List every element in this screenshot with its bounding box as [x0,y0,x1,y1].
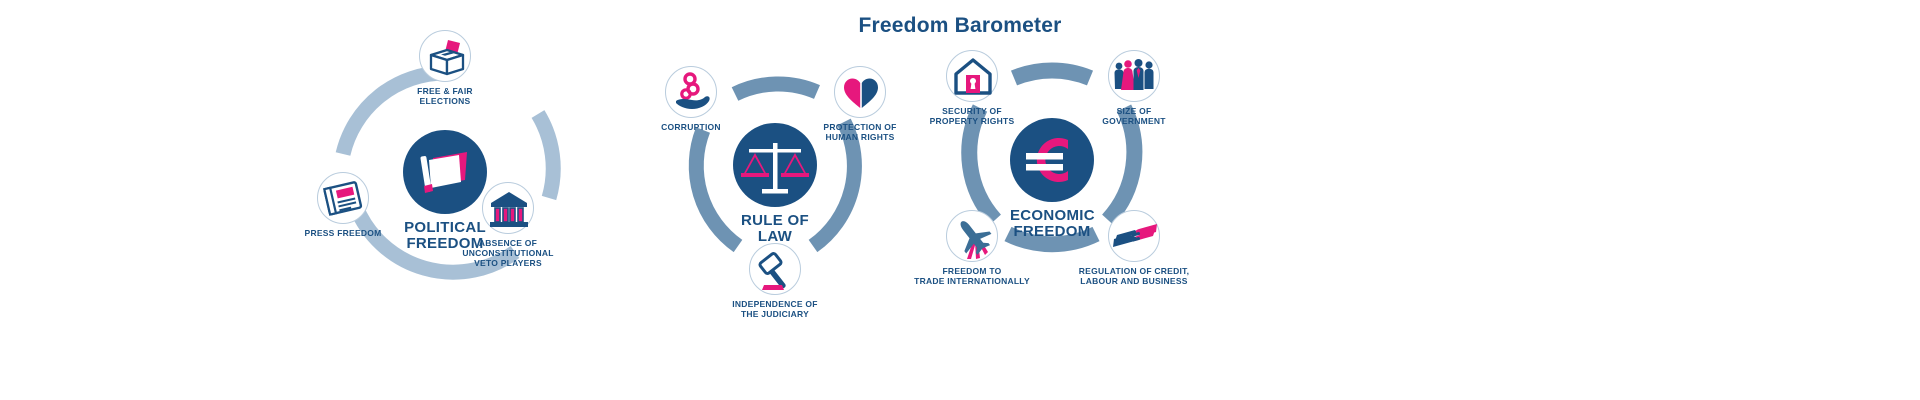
satellite-label: FREEDOM TO TRADE INTERNATIONALLY [887,266,1057,286]
satellite-security-property-rights[interactable]: SECURITY OF PROPERTY RIGHTS [887,50,1057,126]
newspaper-disc [317,172,369,224]
people-group-disc [1108,50,1160,102]
satellite-press-freedom[interactable]: PRESS FREEDOM [258,172,428,238]
hand-with-coins-icon [666,67,718,119]
freedom-barometer-infographic: Freedom Barometer [0,0,1920,400]
satellite-corruption[interactable]: CORRUPTION [606,66,776,132]
satellite-absence-veto-players[interactable]: ABSENCE OF UNCONSTITUTIONAL VETO PLAYERS [423,182,593,268]
satellite-label: SECURITY OF PROPERTY RIGHTS [887,106,1057,126]
hub-label: RULE OF LAW [733,213,817,244]
handshake-icon [1109,211,1161,263]
house-keyhole-icon [947,51,999,103]
gavel-disc [749,243,801,295]
ballot-box-icon [420,31,472,83]
cluster-economic-freedom: ECONOMIC FREEDOM SECURITY OF PROPERTY RI… [862,30,1242,370]
satellite-label: PRESS FREEDOM [258,228,428,238]
gavel-icon [750,244,802,296]
euro-disc [1010,118,1094,202]
satellite-freedom-trade-internationally[interactable]: FREEDOM TO TRADE INTERNATIONALLY [887,210,1057,286]
house-keyhole-disc [946,50,998,102]
satellite-label: CORRUPTION [606,122,776,132]
parliament-disc [482,182,534,234]
satellite-label: ABSENCE OF UNCONSTITUTIONAL VETO PLAYERS [423,238,593,268]
satellite-label: SIZE OF GOVERNMENT [1049,106,1219,126]
satellite-independence-judiciary[interactable]: INDEPENDENCE OF THE JUDICIARY [690,243,860,319]
people-group-icon [1109,51,1161,103]
handshake-disc [1108,210,1160,262]
satellite-label: FREE & FAIR ELECTIONS [360,86,530,106]
hand-with-coins-disc [665,66,717,118]
parliament-icon [483,183,535,235]
satellite-free-fair-elections[interactable]: FREE & FAIR ELECTIONS [360,30,530,106]
satellite-size-of-government[interactable]: SIZE OF GOVERNMENT [1049,50,1219,126]
ballot-box-disc [419,30,471,82]
satellite-regulation-credit-labour-business[interactable]: REGULATION OF CREDIT, LABOUR AND BUSINES… [1049,210,1219,286]
cluster-political-freedom: POLITICAL FREEDOM FREE & FAIR ELECTI [255,30,635,370]
airplane-disc [946,210,998,262]
satellite-label: REGULATION OF CREDIT, LABOUR AND BUSINES… [1049,266,1219,286]
euro-symbol-icon [1010,118,1094,202]
newspaper-icon [318,173,370,225]
airplane-icon [947,211,999,263]
satellite-label: INDEPENDENCE OF THE JUDICIARY [690,299,860,319]
